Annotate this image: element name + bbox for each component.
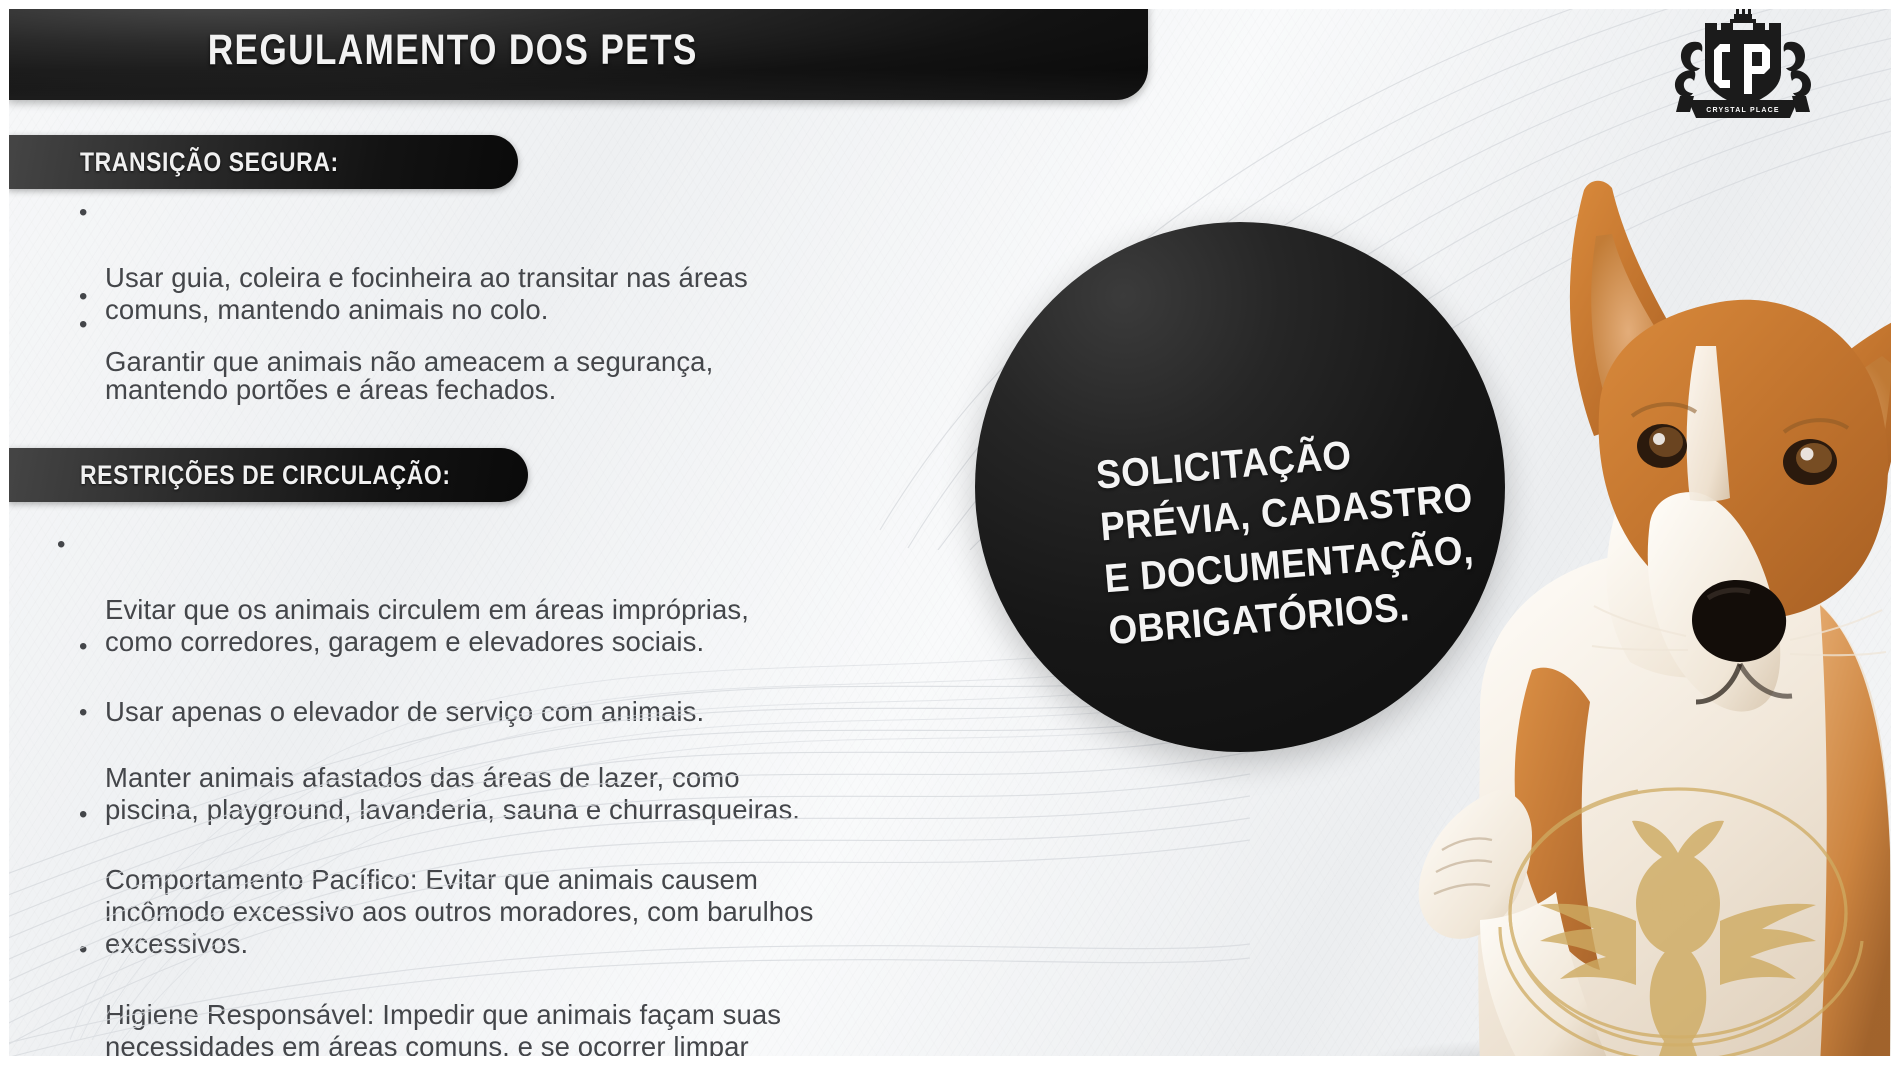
section-header-transicao-segura: TRANSIÇÃO SEGURA: xyxy=(8,135,518,189)
page-title: REGULAMENTO DOS PETS xyxy=(208,26,698,75)
section-title-label: RESTRIÇÕES DE CIRCULAÇÃO: xyxy=(80,460,451,491)
owl-watermark xyxy=(1470,745,1890,1065)
logo-banner-text: CRYSTAL PLACE xyxy=(1706,107,1779,114)
slide-canvas: REGULAMENTO DOS PETS xyxy=(0,0,1900,1065)
section-title-label: TRANSIÇÃO SEGURA: xyxy=(80,147,339,178)
header-bar: REGULAMENTO DOS PETS xyxy=(8,0,1148,100)
crystal-place-crest-logo: CRYSTAL PLACE xyxy=(1658,8,1828,120)
section-header-restricoes-de-circulacao: RESTRIÇÕES DE CIRCULAÇÃO: xyxy=(8,448,528,502)
